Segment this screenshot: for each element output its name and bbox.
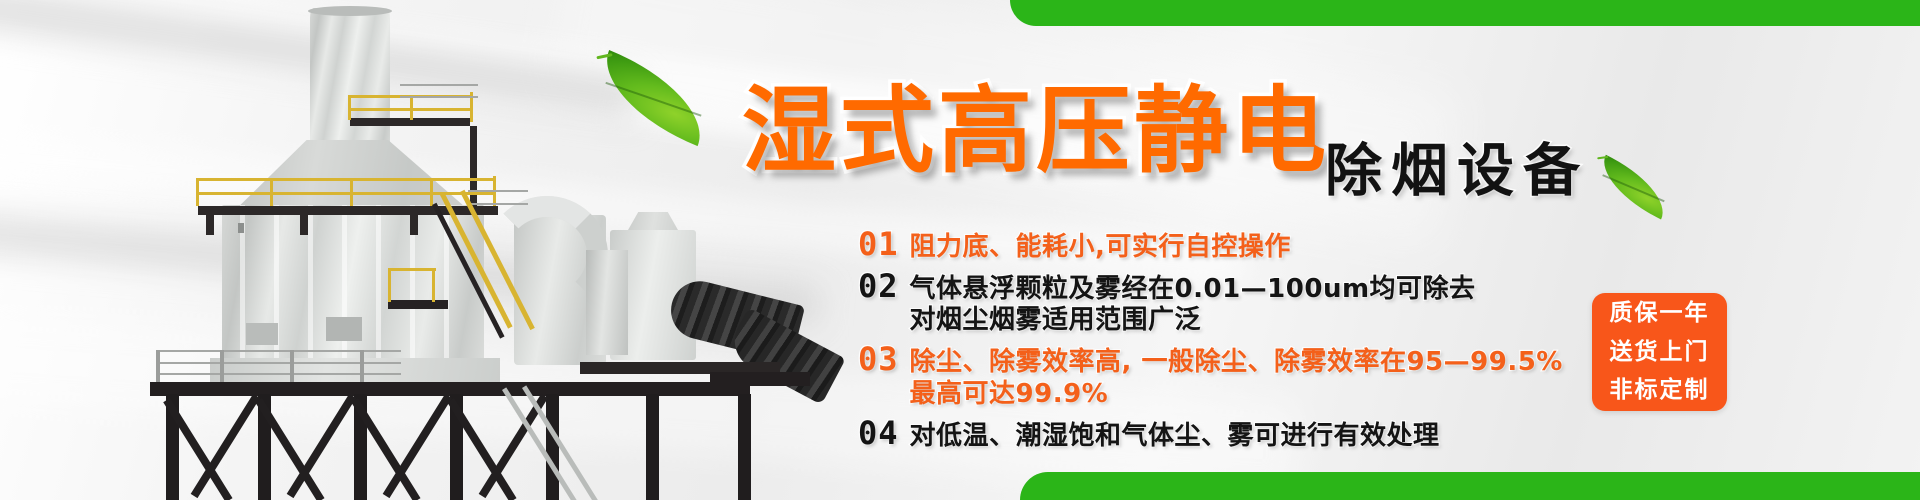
green-corner-bottom [1020, 472, 1920, 500]
deck-railing-post [290, 350, 294, 382]
deck-railing-post [220, 350, 224, 382]
grey-handrail [468, 203, 528, 205]
feature-text: 气体悬浮颗粒及雾经在0.01—100um均可除去 对烟尘烟雾适用范围广泛 [910, 270, 1476, 337]
chimney-rim [308, 6, 392, 16]
feature-item: 02 气体悬浮颗粒及雾经在0.01—100um均可除去 对烟尘烟雾适用范围广泛 [858, 270, 1648, 337]
deck-railing [156, 373, 401, 375]
support-beam [410, 215, 418, 235]
feature-text: 除尘、除雾效率高, 一般除尘、除雾效率在95—99.5% 最高可达99.9% [910, 343, 1563, 410]
feature-item: 01 阻力底、能耗小,可实行自控操作 [858, 228, 1648, 264]
duct-downpipe [586, 250, 628, 355]
cross-brace [287, 394, 356, 498]
support-beam [300, 215, 308, 235]
stair-landing [388, 300, 448, 309]
deck-railing [156, 350, 401, 352]
yellow-handrail [196, 192, 496, 195]
deck-extension [710, 372, 810, 386]
equipment-photo [110, 0, 810, 500]
yellow-handrail [350, 178, 353, 206]
yellow-handrail [388, 268, 436, 271]
cross-brace [383, 394, 452, 498]
service-guarantee-badge: 质保一年 送货上门 非标定制 [1592, 293, 1727, 411]
leaf-icon [1590, 155, 1676, 222]
yellow-handrail [410, 95, 413, 120]
yellow-handrail [430, 178, 433, 206]
yellow-handrail [196, 178, 496, 181]
support-leg [646, 394, 659, 500]
promo-banner: 湿式高压静电 除烟设备 01 阻力底、能耗小,可实行自控操作 02 气体悬浮颗粒… [0, 0, 1920, 500]
yellow-handrail [388, 268, 391, 302]
yellow-handrail [348, 95, 351, 120]
badge-line-custom: 非标定制 [1610, 371, 1710, 410]
deck-railing-post [156, 350, 160, 382]
feature-list: 01 阻力底、能耗小,可实行自控操作 02 气体悬浮颗粒及雾经在0.01—100… [858, 228, 1648, 456]
feature-item: 03 除尘、除雾效率高, 一般除尘、除雾效率在95—99.5% 最高可达99.9… [858, 343, 1648, 410]
page-title: 湿式高压静电 [742, 55, 1330, 191]
support-leg [738, 394, 751, 500]
green-corner-top [1010, 0, 1920, 26]
deck-railing-post [360, 350, 364, 382]
yellow-handrail [432, 268, 435, 302]
grey-handrail [400, 84, 478, 86]
feature-text: 对低温、潮湿饱和气体尘、雾可进行有效处理 [910, 417, 1440, 453]
feature-number: 01 [858, 228, 899, 262]
badge-line-delivery: 送货上门 [1610, 333, 1710, 372]
badge-line-warranty: 质保一年 [1610, 294, 1710, 333]
support-leg [546, 394, 559, 500]
deck-railing [156, 362, 401, 364]
feature-item: 04 对低温、潮湿饱和气体尘、雾可进行有效处理 [858, 417, 1648, 453]
support-beam [206, 215, 214, 235]
chimney-stack [310, 8, 390, 163]
feature-text: 阻力底、能耗小,可实行自控操作 [910, 228, 1291, 264]
feature-number: 04 [858, 417, 899, 451]
cross-brace [191, 394, 260, 498]
grey-handrail [400, 96, 478, 98]
grey-handrail [468, 190, 528, 192]
feature-number: 02 [858, 270, 899, 304]
page-subtitle: 除烟设备 [1325, 125, 1589, 207]
yellow-handrail [270, 178, 273, 206]
feature-number: 03 [858, 343, 899, 377]
yellow-handrail [196, 178, 199, 206]
